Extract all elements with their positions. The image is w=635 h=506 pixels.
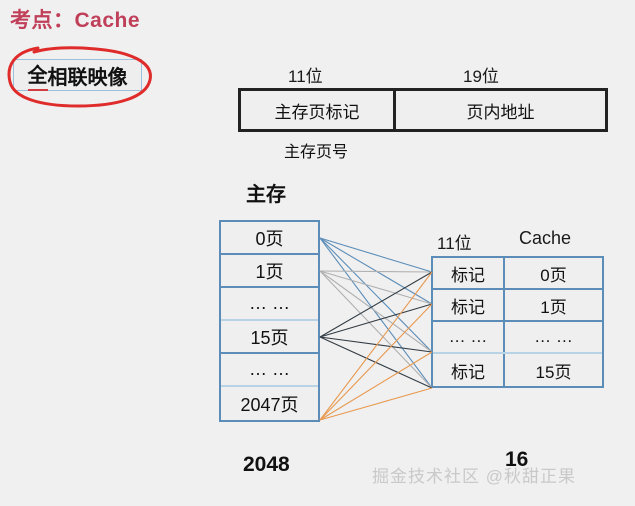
main-memory-row: 2047页 bbox=[221, 387, 318, 420]
cache-row: 标记15页 bbox=[433, 354, 602, 386]
mapping-method-rest: 相联映像 bbox=[48, 61, 128, 90]
address-field-offset: 页内地址 bbox=[396, 91, 605, 129]
main-memory-row-label: … … bbox=[249, 359, 290, 380]
address-tag-bits-label: 11位 bbox=[288, 62, 323, 87]
mapping-line bbox=[320, 337, 432, 352]
cache-row-page: 1页 bbox=[505, 290, 602, 320]
mapping-line bbox=[320, 272, 432, 337]
cache-row-tag: … … bbox=[433, 322, 505, 352]
main-memory-row-label: 15页 bbox=[250, 324, 288, 350]
address-format-box: 主存页标记 页内地址 bbox=[238, 88, 608, 132]
main-memory-page-count: 2048 bbox=[243, 453, 290, 477]
mapping-line bbox=[320, 238, 432, 304]
cache-row: … …… … bbox=[433, 322, 602, 354]
address-bits-row: 11位 19位 bbox=[238, 62, 608, 86]
slide-canvas: 考点：Cache 全相联映像 11位 19位 主存页标记 页内地址 主存页号 主… bbox=[0, 0, 635, 506]
cache-row-page: … … bbox=[505, 322, 602, 352]
mapping-line bbox=[320, 238, 432, 352]
cache-row: 标记1页 bbox=[433, 290, 602, 322]
mapping-line bbox=[320, 238, 432, 272]
cache-row-tag: 标记 bbox=[433, 258, 505, 288]
mapping-line bbox=[320, 271, 432, 388]
cache-row-page: 15页 bbox=[505, 354, 602, 386]
mapping-line bbox=[320, 337, 432, 388]
mapping-line bbox=[320, 352, 432, 420]
address-field-tag: 主存页标记 bbox=[241, 91, 396, 129]
watermark: 掘金技术社区 @秋甜正果 bbox=[372, 462, 576, 487]
address-offset-bits-label: 19位 bbox=[463, 62, 499, 87]
mapping-method-label: 全相联映像 bbox=[14, 60, 141, 90]
mapping-method-keyword: 全 bbox=[28, 59, 48, 91]
mapping-line bbox=[320, 238, 432, 388]
cache-title: Cache bbox=[519, 228, 571, 249]
main-memory-row-label: 0页 bbox=[255, 225, 283, 251]
mapping-method-box: 全相联映像 bbox=[13, 59, 142, 91]
main-memory-row: 0页 bbox=[221, 222, 318, 255]
main-memory-row: … … bbox=[221, 354, 318, 387]
mapping-line bbox=[320, 304, 432, 420]
mapping-line bbox=[320, 271, 432, 272]
cache-tag-bits-label: 11位 bbox=[437, 229, 472, 254]
main-memory-row: 1页 bbox=[221, 255, 318, 288]
main-memory-title: 主存 bbox=[246, 178, 286, 207]
main-memory-row-label: 1页 bbox=[255, 258, 283, 284]
page-title: 考点：Cache bbox=[10, 4, 140, 34]
mapping-line bbox=[320, 271, 432, 352]
mapping-line bbox=[320, 388, 432, 420]
mapping-line bbox=[320, 304, 432, 337]
main-memory-table: 0页1页… …15页… …2047页 bbox=[219, 220, 320, 422]
cache-row: 标记0页 bbox=[433, 258, 602, 290]
cache-table: 标记0页标记1页… …… …标记15页 bbox=[431, 256, 604, 388]
main-memory-row-label: … … bbox=[249, 293, 290, 314]
cache-row-tag: 标记 bbox=[433, 290, 505, 320]
main-memory-row: … … bbox=[221, 288, 318, 321]
cache-row-tag: 标记 bbox=[433, 354, 505, 386]
mapping-line bbox=[320, 271, 432, 304]
main-memory-row-label: 2047页 bbox=[240, 391, 298, 417]
main-memory-row: 15页 bbox=[221, 321, 318, 354]
cache-row-page: 0页 bbox=[505, 258, 602, 288]
address-page-number-label: 主存页号 bbox=[284, 138, 348, 162]
mapping-line bbox=[320, 272, 432, 420]
